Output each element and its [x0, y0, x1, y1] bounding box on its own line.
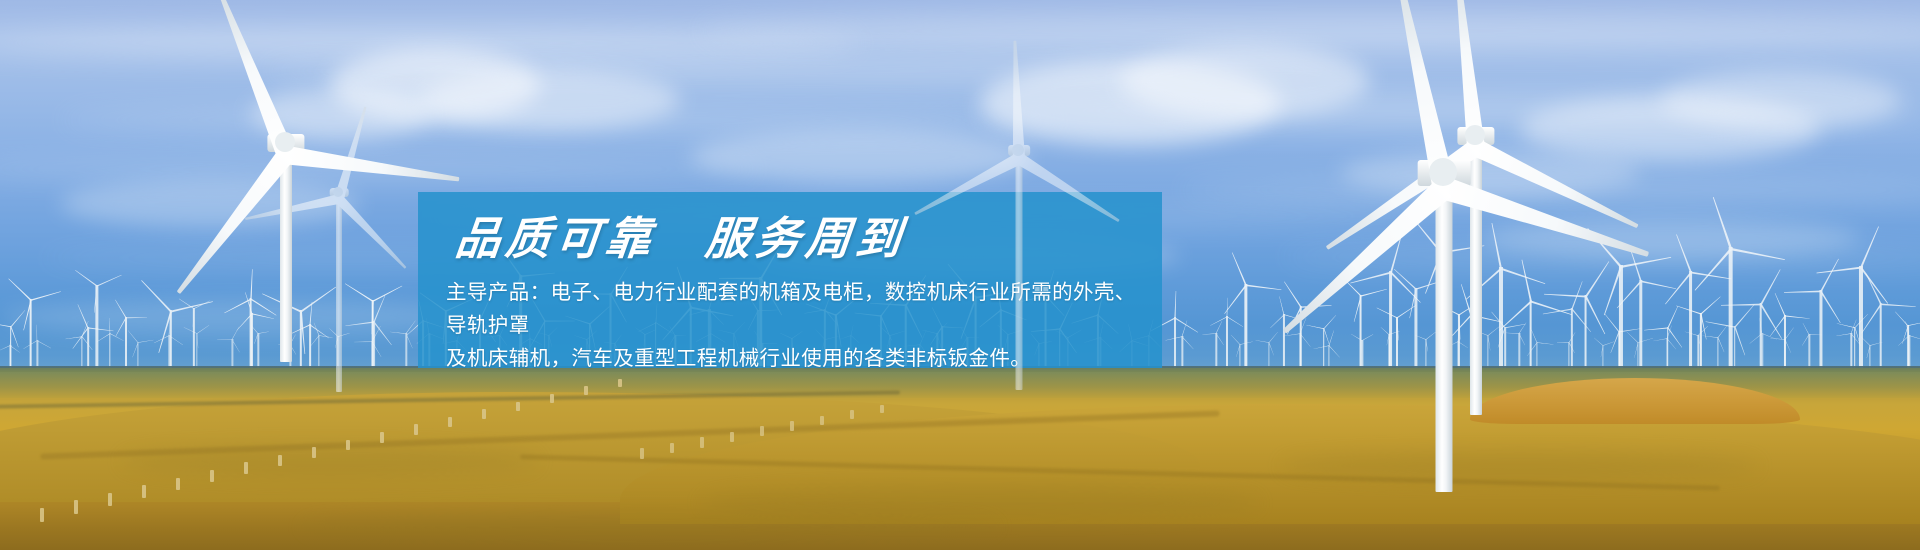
cloud-puff: [420, 70, 680, 130]
distant-turbine-pole: [1858, 266, 1862, 382]
fence-post: [482, 409, 486, 418]
fence-post: [670, 443, 674, 454]
turbine-tower: [1016, 150, 1023, 390]
fence-post: [40, 508, 44, 522]
hero-banner: 品质可靠 服务周到 主导产品：电子、电力行业配套的机箱及电柜，数控机床行业所需的…: [0, 0, 1920, 550]
fence-post: [730, 432, 734, 442]
fence-post: [142, 485, 146, 498]
distant-turbine-pole: [1639, 280, 1642, 378]
distant-turbine-pole: [1571, 308, 1573, 374]
fence-post: [760, 426, 764, 436]
description-line-1: 主导产品：电子、电力行业配套的机箱及电柜，数控机床行业所需的外壳、导轨护罩: [446, 276, 1146, 342]
distant-turbine-pole: [1819, 290, 1822, 378]
fence-post: [278, 455, 282, 467]
fence-post: [210, 470, 214, 482]
fence-post: [380, 432, 384, 443]
turbine-hub: [1012, 144, 1024, 156]
promo-panel: 品质可靠 服务周到 主导产品：电子、电力行业配套的机箱及电柜，数控机床行业所需的…: [418, 192, 1162, 368]
fence-post: [700, 437, 704, 447]
fence-post: [346, 440, 350, 451]
fence-post: [74, 500, 78, 514]
fence-post: [640, 448, 644, 459]
fence-post: [618, 379, 622, 387]
fence-post: [312, 447, 316, 458]
grass-shading: [300, 512, 1000, 542]
grass-shading: [1280, 452, 1760, 480]
fence-post: [550, 394, 554, 403]
turbine-tower: [1436, 172, 1453, 492]
fence-post: [108, 493, 112, 506]
fence-post: [516, 402, 520, 411]
grass-shading: [120, 446, 540, 476]
fence-post: [448, 417, 452, 427]
distant-turbine-pole: [1283, 314, 1285, 374]
distant-turbine-pole: [1498, 267, 1502, 382]
cloud-puff: [1660, 70, 1900, 130]
cloud-band: [700, 14, 1920, 48]
description-line-2: 及机床辅机，汽车及重型工程机械行业使用的各类非标钣金件。: [446, 342, 1146, 375]
distant-turbine-pole: [1728, 247, 1733, 382]
cloud-puff: [1120, 44, 1370, 118]
turbine-tower: [336, 192, 342, 392]
banner-headline: 品质可靠 服务周到: [453, 202, 910, 267]
fence-post: [176, 478, 180, 491]
distant-turbine-pole: [1618, 265, 1622, 382]
fence-post: [414, 424, 418, 434]
turbine-tower: [280, 142, 292, 362]
distant-turbine-pole: [1414, 288, 1417, 378]
fence-post: [820, 416, 824, 425]
fence-post: [790, 421, 794, 431]
banner-description: 主导产品：电子、电力行业配套的机箱及电柜，数控机床行业所需的外壳、导轨护罩 及机…: [446, 276, 1146, 375]
fence-post: [584, 386, 588, 394]
fence-post: [850, 410, 854, 419]
distant-turbine-pole: [1244, 284, 1247, 378]
turbine-tower: [1470, 135, 1482, 415]
fence-post: [880, 405, 884, 414]
fence-post: [244, 462, 248, 474]
